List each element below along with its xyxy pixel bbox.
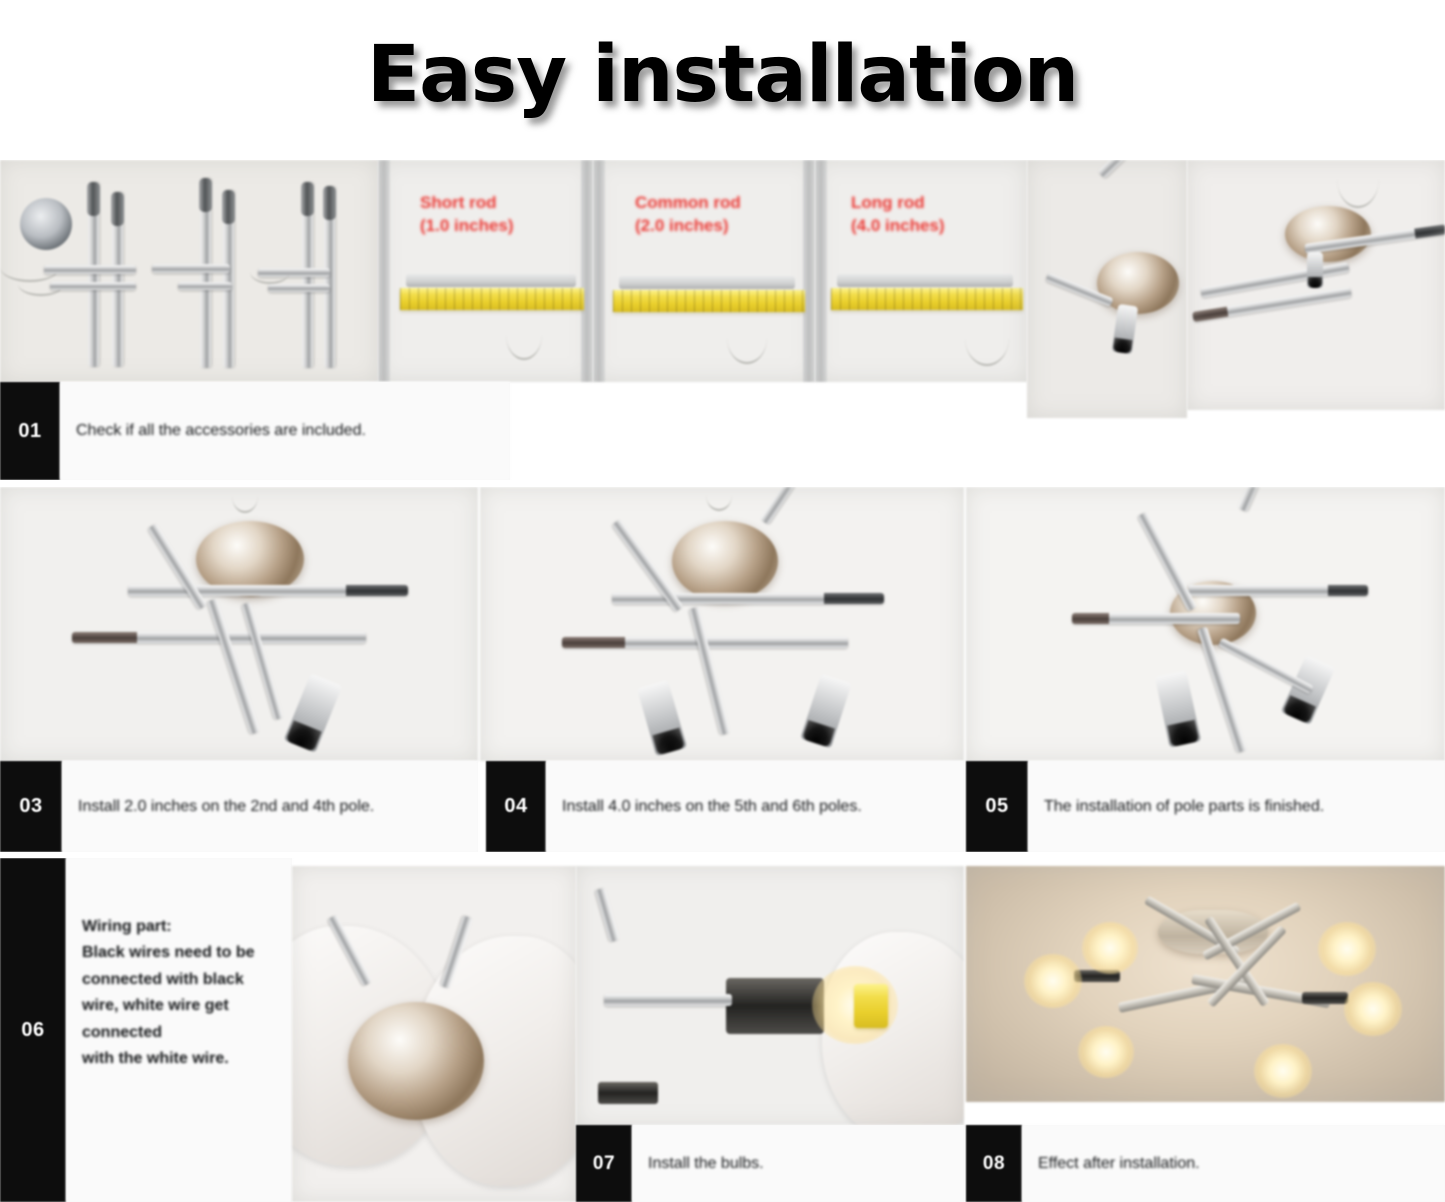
rod-sample (837, 274, 1013, 287)
rod-horizontal (268, 284, 330, 292)
installation-guide-page: Easy installation Short rod (0, 0, 1445, 1202)
step-caption-text-07: Install the bulbs. (632, 1125, 964, 1202)
hanging-wire (1337, 160, 1379, 208)
photo-step-03 (0, 487, 478, 761)
washer-part (20, 198, 72, 250)
tape-hook (727, 312, 767, 364)
rod-horizontal (612, 593, 884, 604)
step-badge-07: 07 (576, 1125, 632, 1202)
socket-part (1307, 252, 1323, 288)
step-badge-04: 04 (486, 761, 546, 852)
rod-diagonal (1218, 638, 1314, 695)
hanging-wire (706, 487, 732, 511)
fixture-arm-dark (1302, 992, 1348, 1004)
step-row-2: 03 Install 2.0 inches on the 2nd and 4th… (0, 487, 1445, 852)
rod-vertical (88, 182, 99, 367)
photo-step-06 (292, 866, 576, 1202)
hub-part (348, 1002, 484, 1120)
label-short-rod: Short rod (1.0 inches) (420, 192, 514, 238)
step-caption-08: 08 Effect after installation. (966, 1125, 1445, 1202)
step-caption-04: 04 Install 4.0 inches on the 5th and 6th… (486, 761, 964, 852)
step-caption-text-06: Wiring part: Black wires need to be conn… (66, 858, 292, 1202)
photo-step-05 (966, 487, 1445, 761)
bulb (1344, 982, 1402, 1036)
tape-hook (965, 310, 1009, 366)
rod-sample (619, 276, 795, 289)
step-caption-05: 05 The installation of pole parts is fin… (966, 761, 1445, 852)
rod-diagonal (1098, 160, 1186, 179)
step-badge-05: 05 (966, 761, 1028, 852)
wire-part (250, 260, 290, 284)
rod-horizontal (44, 265, 136, 274)
photo-short-rod-measure: Short rod (1.0 inches) (378, 160, 593, 382)
photo-step-04 (480, 487, 964, 761)
page-title: Easy installation (367, 36, 1078, 114)
socket-body (726, 978, 824, 1034)
label-long-rod: Long rod (4.0 inches) (851, 192, 945, 238)
rod-vertical (200, 178, 211, 368)
bulb (1082, 922, 1138, 974)
photo-mounting-hub (1027, 160, 1187, 418)
rod-diagonal (595, 888, 619, 943)
step-caption-01: 01 Check if all the accessories are incl… (0, 382, 510, 480)
hub-part (672, 521, 778, 601)
step-badge-08: 08 (966, 1125, 1022, 1202)
step-row-1: Short rod (1.0 inches) Common rod (2.0 i… (0, 160, 1445, 480)
socket-part (800, 674, 851, 749)
hanging-wire (232, 487, 258, 513)
hub-part (1285, 206, 1371, 262)
bulb-base (854, 984, 888, 1028)
bulb (1254, 1044, 1312, 1098)
rod-vertical (112, 192, 123, 367)
photo-accessories (0, 160, 378, 382)
step-badge-06: 06 (0, 858, 66, 1202)
bulb (1078, 1026, 1134, 1078)
rod-diagonal (760, 487, 830, 525)
rod-horizontal (1188, 585, 1368, 596)
bulb (1318, 922, 1376, 976)
photo-common-rod-measure: Common rod (2.0 inches) (593, 160, 815, 382)
rod-horizontal (152, 264, 230, 273)
photo-step-07 (576, 866, 964, 1128)
rod-diagonal (1138, 512, 1198, 612)
socket-part (637, 680, 687, 756)
rod-vertical (223, 190, 234, 368)
step-badge-01: 01 (0, 382, 60, 480)
rod-horizontal (1072, 613, 1240, 624)
rod-horizontal (604, 994, 732, 1006)
rod-horizontal (128, 585, 408, 596)
rod-sample (406, 274, 576, 287)
step-caption-text-01: Check if all the accessories are include… (60, 382, 510, 480)
rod-horizontal (178, 282, 232, 290)
photo-long-rod-measure: Long rod (4.0 inches) (815, 160, 1027, 382)
page-title-bar: Easy installation (0, 0, 1445, 150)
rod-segment (598, 1082, 658, 1104)
step-row-3: 06 Wiring part: Black wires need to be c… (0, 858, 1445, 1202)
socket-part (1112, 304, 1138, 354)
step-badge-03: 03 (0, 761, 62, 852)
rod-diagonal (689, 607, 730, 736)
rod-horizontal (50, 282, 136, 290)
rod-vertical (324, 186, 335, 368)
photo-step-08 (966, 866, 1445, 1102)
step-caption-06: 06 Wiring part: Black wires need to be c… (0, 858, 292, 1202)
label-common-rod: Common rod (2.0 inches) (635, 192, 741, 238)
step-caption-03: 03 Install 2.0 inches on the 2nd and 4th… (0, 761, 478, 852)
socket-part (284, 673, 342, 752)
bulb (1024, 954, 1082, 1008)
photo-mounting-arms (1187, 160, 1445, 410)
step-caption-text-03: Install 2.0 inches on the 2nd and 4th po… (62, 761, 478, 852)
measuring-tape (400, 288, 584, 310)
step-caption-text-04: Install 4.0 inches on the 5th and 6th po… (546, 761, 964, 852)
step-caption-07: 07 Install the bulbs. (576, 1125, 964, 1202)
rod-diagonal (1237, 487, 1287, 512)
measuring-tape (613, 290, 805, 312)
step-caption-text-08: Effect after installation. (1022, 1125, 1445, 1202)
measuring-tape (831, 288, 1023, 310)
step-caption-text-05: The installation of pole parts is finish… (1028, 761, 1445, 852)
socket-part (1155, 670, 1201, 747)
tape-hook (506, 310, 542, 360)
